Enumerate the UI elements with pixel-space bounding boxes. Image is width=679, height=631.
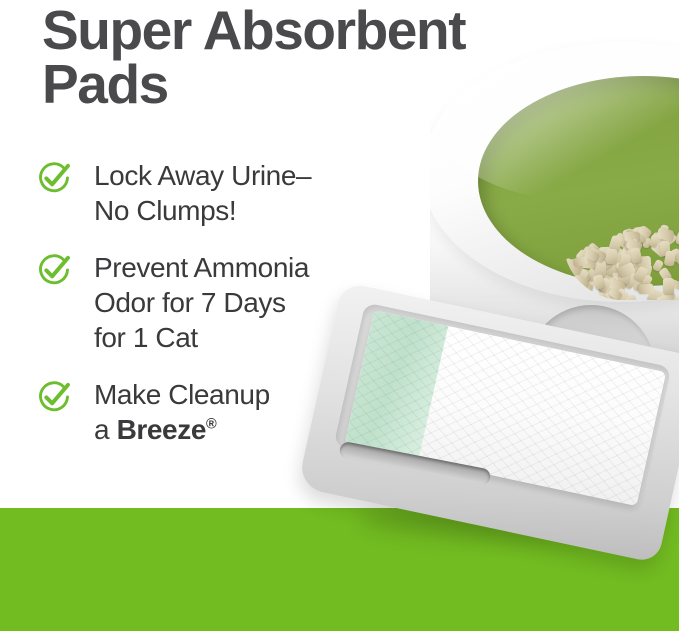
headline-line-1: Super Absorbent xyxy=(42,4,642,58)
brand-name-breeze: Breeze xyxy=(117,414,206,445)
check-circle-icon xyxy=(36,252,72,288)
registered-trademark-symbol: ® xyxy=(206,417,217,433)
list-item: Make Cleanup a Breeze® xyxy=(36,377,436,447)
bullet-3-prefix: a xyxy=(94,414,117,445)
list-item-text: Prevent Ammonia Odor for 7 Days for 1 Ca… xyxy=(94,250,309,355)
litter-pellet xyxy=(663,278,674,294)
page-title: Super Absorbent Pads xyxy=(42,4,642,112)
feature-list: Lock Away Urine– No Clumps! Prevent Ammo… xyxy=(36,158,436,469)
list-item: Lock Away Urine– No Clumps! xyxy=(36,158,436,228)
headline-line-2: Pads xyxy=(42,58,642,112)
check-circle-icon xyxy=(36,379,72,415)
litter-pellets xyxy=(563,180,679,300)
list-item: Prevent Ammonia Odor for 7 Days for 1 Ca… xyxy=(36,250,436,355)
promo-banner: Super Absorbent Pads Lock Away Urine– No… xyxy=(0,0,679,631)
litter-pellet xyxy=(638,284,652,294)
bullet-2-line-3: for 1 Cat xyxy=(94,320,309,355)
litter-pellet xyxy=(606,249,617,265)
list-item-text: Lock Away Urine– No Clumps! xyxy=(94,158,311,228)
litter-pellet xyxy=(664,250,676,266)
litter-pellet xyxy=(627,294,636,300)
list-item-text: Make Cleanup a Breeze® xyxy=(94,377,270,447)
bullet-2-line-2: Odor for 7 Days xyxy=(94,285,309,320)
litter-pellet xyxy=(573,255,588,266)
bullet-1-line-2: No Clumps! xyxy=(94,193,311,228)
bullet-2-line-1: Prevent Ammonia xyxy=(94,250,309,285)
bullet-1-line-1: Lock Away Urine– xyxy=(94,158,311,193)
bullet-3-line-1: Make Cleanup xyxy=(94,377,270,412)
bullet-3-line-2: a Breeze® xyxy=(94,412,270,447)
check-circle-icon xyxy=(36,160,72,196)
